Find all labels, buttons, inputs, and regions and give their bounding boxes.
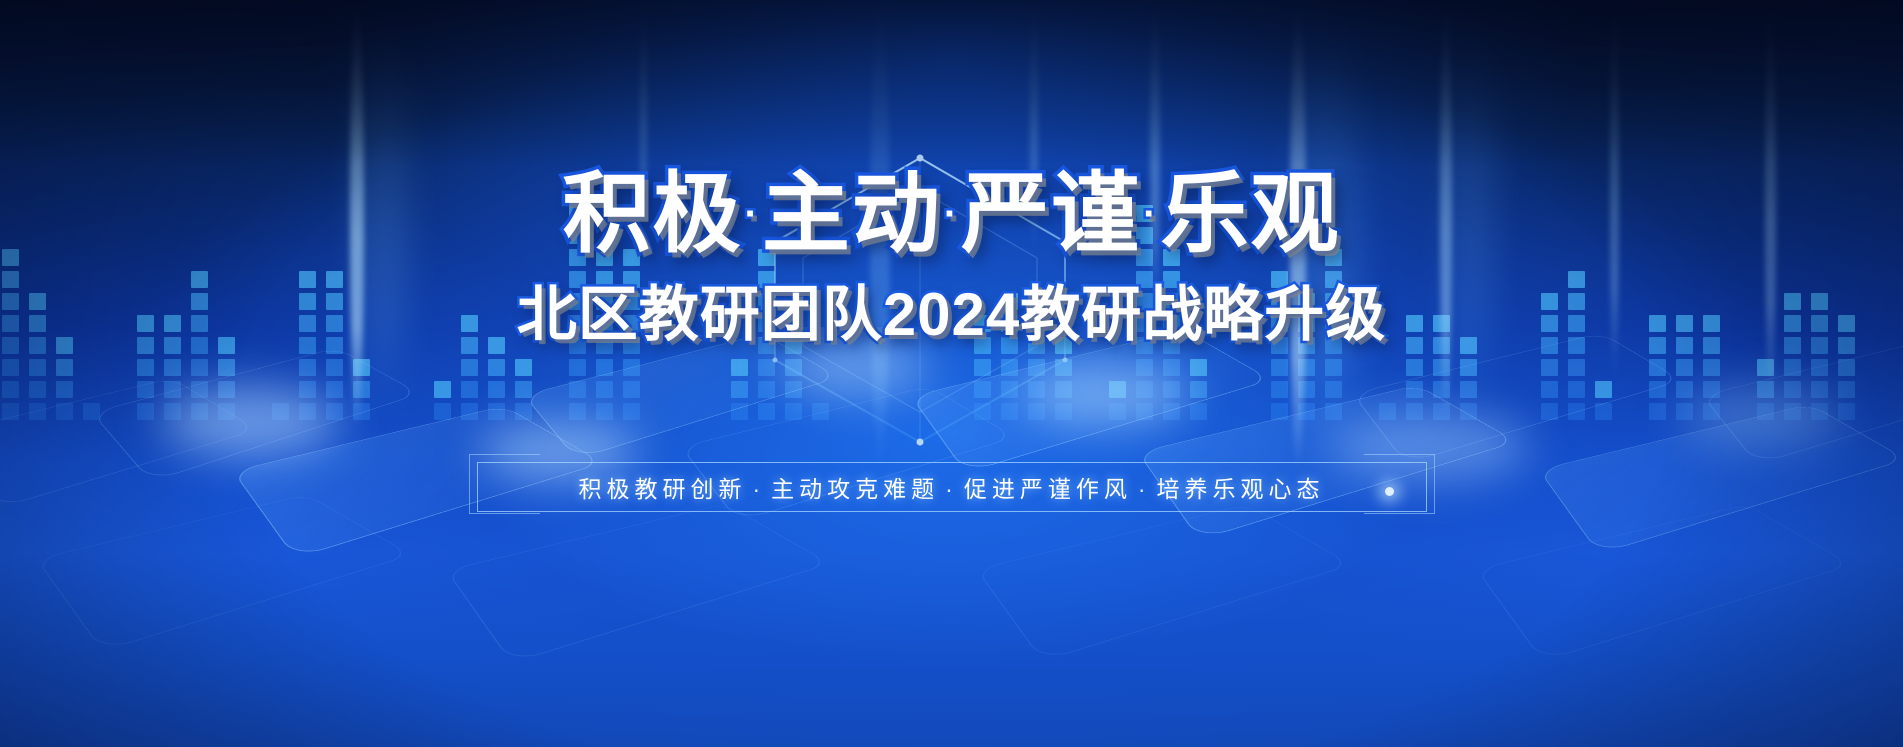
title-separator-icon: · <box>744 192 759 236</box>
title-word-3: 严谨 <box>961 164 1141 263</box>
tagline-separator-icon: · <box>939 476 964 502</box>
tagline-item-2: 主动攻克难题 <box>771 476 939 502</box>
title-word-2: 主动 <box>762 164 942 263</box>
tagline-text: 积极教研创新·主动攻克难题·促进严谨作风·培养乐观心态 <box>578 470 1324 504</box>
page-title: 积极·主动·严谨·乐观 <box>562 168 1340 260</box>
floor-plate <box>446 504 830 664</box>
perspective-floor <box>0 327 1903 747</box>
tagline-item-4: 培养乐观心态 <box>1157 476 1325 502</box>
floor-glow <box>1020 362 1190 427</box>
tagline-item-1: 积极教研创新 <box>578 476 746 502</box>
title-word-1: 积极 <box>562 164 742 263</box>
floor-plate <box>976 504 1352 661</box>
title-block: 积极·主动·严谨·乐观 北区教研团队2024教研战略升级 <box>0 168 1903 353</box>
title-separator-icon: · <box>944 192 959 236</box>
tagline-bar: 积极教研创新·主动攻克难题·促进严谨作风·培养乐观心态 <box>477 462 1427 512</box>
light-spark-dot <box>1385 487 1394 496</box>
tagline-separator-icon: · <box>1132 476 1157 502</box>
title-word-4: 乐观 <box>1161 164 1341 263</box>
floor-glow <box>160 387 340 457</box>
title-separator-icon: · <box>1143 192 1158 236</box>
tagline-separator-icon: · <box>746 476 771 502</box>
floor-plate <box>1476 504 1852 661</box>
banner-stage: 积极·主动·严谨·乐观 北区教研团队2024教研战略升级 积极教研创新·主动攻克… <box>0 0 1903 747</box>
page-subtitle: 北区教研团队2024教研战略升级 <box>517 266 1386 353</box>
floor-glow <box>1680 387 1840 447</box>
tagline-item-3: 促进严谨作风 <box>964 476 1132 502</box>
